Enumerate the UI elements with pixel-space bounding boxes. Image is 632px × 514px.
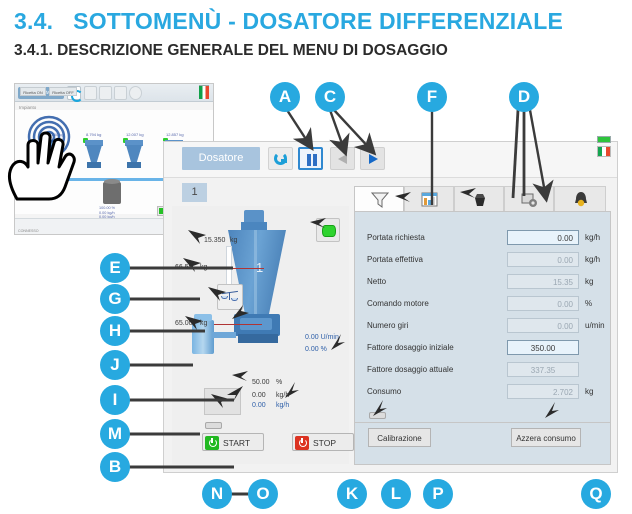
percent-setpoint-unit: % <box>276 379 282 386</box>
tab-alarm[interactable] <box>554 186 606 212</box>
callout-e: E <box>100 253 130 283</box>
field-input: 337.35 <box>507 362 579 377</box>
field-numero-giri: Numero giri 0.00 u/min <box>367 318 603 337</box>
field-input: 0.00 <box>507 296 579 311</box>
mini-hopper-4-label: 12.857 kg <box>166 132 184 137</box>
power-on-icon <box>205 436 219 450</box>
field-netto: Netto 15.35 kg <box>367 274 603 293</box>
azzera-consumo-button[interactable]: Azzera consumo <box>511 428 581 447</box>
field-label: Numero giri <box>367 321 408 330</box>
field-label: Comando motore <box>367 299 429 308</box>
mini-hopper-2-base <box>87 162 101 168</box>
alarm-bell-icon <box>573 191 589 208</box>
callout-n: N <box>202 479 232 509</box>
weight-total-unit: kg <box>230 237 237 244</box>
setpoint-high-value: 66.50 <box>175 264 193 271</box>
field-input[interactable]: 350.00 <box>507 340 579 355</box>
setpoint-input-box[interactable] <box>204 388 241 415</box>
tab-material[interactable] <box>454 186 504 212</box>
start-label: START <box>223 438 250 448</box>
page-badge[interactable]: 1 <box>182 183 207 202</box>
toolbar-title: Dosatore <box>182 147 260 170</box>
mini-hopper-3-body <box>126 145 142 163</box>
callout-o: O <box>248 479 278 509</box>
stop-button[interactable]: STOP <box>292 433 354 451</box>
callout-q: Q <box>581 479 611 509</box>
field-label: Portata richiesta <box>367 233 425 242</box>
field-unit: u/min <box>585 321 605 330</box>
field-portata-effettiva: Portata effettiva 0.00 kg/h <box>367 252 603 271</box>
mini-mixer-drum[interactable] <box>103 182 121 204</box>
flow1-value: 0.00 <box>252 392 266 399</box>
page-title-text: SOTTOMENÙ - DOSATORE DIFFERENZIALE <box>73 8 563 34</box>
tab-bar <box>354 186 611 212</box>
percent-readout: 0.00 % <box>305 346 327 353</box>
calibration-scale-button[interactable] <box>217 284 243 310</box>
mini-previous-icon[interactable] <box>99 86 112 100</box>
mini-status-text: CONNESSO <box>18 229 39 233</box>
flow2-value: 0.00 <box>252 402 266 409</box>
field-label: Fattore dosaggio iniziale <box>367 343 454 352</box>
hopper-base <box>234 314 280 336</box>
callout-h: H <box>100 316 130 346</box>
pause-icon[interactable] <box>298 147 323 170</box>
funnel-icon <box>371 192 389 208</box>
mini-next-icon[interactable] <box>114 86 127 100</box>
hopper-foot <box>238 334 278 343</box>
green-cylinder-icon <box>322 225 336 237</box>
mini-stop-icon[interactable] <box>129 86 142 100</box>
mini-hopper-3-base <box>127 162 141 168</box>
callout-g: G <box>100 284 130 314</box>
field-input: 0.00 <box>507 252 579 267</box>
weight-total-value: 15.350 <box>204 237 225 244</box>
mini-ricetta-off-button[interactable]: Ricetta OFF <box>49 87 77 96</box>
tab-settings[interactable] <box>504 186 554 212</box>
callout-d: D <box>509 82 539 112</box>
refresh-icon[interactable] <box>268 147 293 170</box>
field-unit: kg <box>585 277 593 286</box>
callout-k: K <box>337 479 367 509</box>
speed-readout: 0.00 U/min <box>305 334 339 341</box>
balance-scale-icon <box>221 289 239 304</box>
field-label: Netto <box>367 277 386 286</box>
setpoint-low-value: 65.00 <box>175 320 193 327</box>
setpoint-high-line <box>214 268 264 269</box>
app-toolbar: Dosatore <box>164 142 617 178</box>
tab-chart[interactable] <box>404 186 454 212</box>
field-label: Portata effettiva <box>367 255 423 264</box>
setpoint-low-unit: kg <box>200 320 207 327</box>
setpoint-high-unit: kg <box>200 264 207 271</box>
power-off-icon <box>295 436 309 450</box>
field-consumo: Consumo 2.702 kg <box>367 384 603 403</box>
mini-hopper-2-label: 8.794 kg <box>86 132 101 137</box>
page-title: 3.4.SOTTOMENÙ - DOSATORE DIFFERENZIALE <box>14 8 563 35</box>
toolbar-status-bar-icon <box>597 136 611 143</box>
field-fattore-dosaggio-iniziale: Fattore dosaggio iniziale 350.00 <box>367 340 603 359</box>
mini-hopper-3-label: 12.007 kg <box>126 132 144 137</box>
callout-p: P <box>423 479 453 509</box>
callout-m: M <box>100 419 130 449</box>
mini-hopper-2[interactable]: 8.794 kg <box>83 132 105 172</box>
previous-icon[interactable] <box>330 147 355 170</box>
page-title-number: 3.4. <box>14 8 53 34</box>
setpoint-low-line <box>214 324 262 325</box>
valve-toggle-button[interactable] <box>316 218 340 242</box>
data-pane: Portata richiesta 0.00 kg/h Portata effe… <box>354 186 611 464</box>
chart-window-icon <box>421 192 438 207</box>
start-button[interactable]: START <box>202 433 264 451</box>
application-window: Dosatore 1 1 15.350 kg <box>163 141 618 473</box>
callout-c: C <box>315 82 345 112</box>
fields-panel: Portata richiesta 0.00 kg/h Portata effe… <box>354 211 611 423</box>
motor-shaft <box>212 332 236 338</box>
callout-a: A <box>270 82 300 112</box>
tab-funnel[interactable] <box>354 186 404 212</box>
field-input: 0.00 <box>507 318 579 333</box>
calibrazione-button[interactable]: Calibrazione <box>368 428 431 447</box>
field-input: 2.702 <box>507 384 579 399</box>
field-label: Fattore dosaggio attuale <box>367 365 453 374</box>
callout-j: J <box>100 350 130 380</box>
material-icon <box>472 192 488 208</box>
callout-l: L <box>381 479 411 509</box>
mini-hopper-3[interactable]: 12.007 kg <box>123 132 145 172</box>
field-unit: % <box>585 299 592 308</box>
callout-i: I <box>100 385 130 415</box>
status-indicator-pill <box>205 422 222 429</box>
settings-gear-icon <box>521 192 538 208</box>
field-label: Consumo <box>367 387 401 396</box>
next-icon[interactable] <box>360 147 385 170</box>
flow1-unit: kg/h <box>276 392 289 399</box>
field-unit: kg/h <box>585 233 600 242</box>
mini-ricetta-on-button[interactable]: Ricetta ON <box>20 87 46 96</box>
field-comando-motore: Comando motore 0.00 % <box>367 296 603 315</box>
mini-first-icon[interactable] <box>84 86 97 100</box>
field-portata-richiesta: Portata richiesta 0.00 kg/h <box>367 230 603 249</box>
field-unit: kg <box>585 387 593 396</box>
field-fattore-dosaggio-attuale: Fattore dosaggio attuale 337.35 <box>367 362 603 381</box>
field-input[interactable]: 0.00 <box>507 230 579 245</box>
hand-pointer-cursor <box>5 115 83 201</box>
mini-italy-flag-icon[interactable] <box>199 86 209 99</box>
page-subtitle: 3.4.1. DESCRIZIONE GENERALE DEL MENU DI … <box>14 42 448 60</box>
panel-indicator-pill <box>369 412 386 419</box>
toolbar-italy-flag-icon[interactable] <box>597 146 611 157</box>
field-input: 15.35 <box>507 274 579 289</box>
hopper-collar <box>241 222 267 231</box>
mini-hopper-2-body <box>86 145 102 163</box>
percent-setpoint-value: 50.00 <box>252 379 270 386</box>
field-unit: kg/h <box>585 255 600 264</box>
page-root: 3.4.SOTTOMENÙ - DOSATORE DIFFERENZIALE 3… <box>0 0 632 514</box>
flow2-unit: kg/h <box>276 402 289 409</box>
callout-b: B <box>100 452 130 482</box>
callout-f: F <box>417 82 447 112</box>
machine-diagram-pane: 1 15.350 kg 66.50 kg 65.00 kg 0.00 U/min <box>172 206 349 464</box>
stop-label: STOP <box>313 438 336 448</box>
